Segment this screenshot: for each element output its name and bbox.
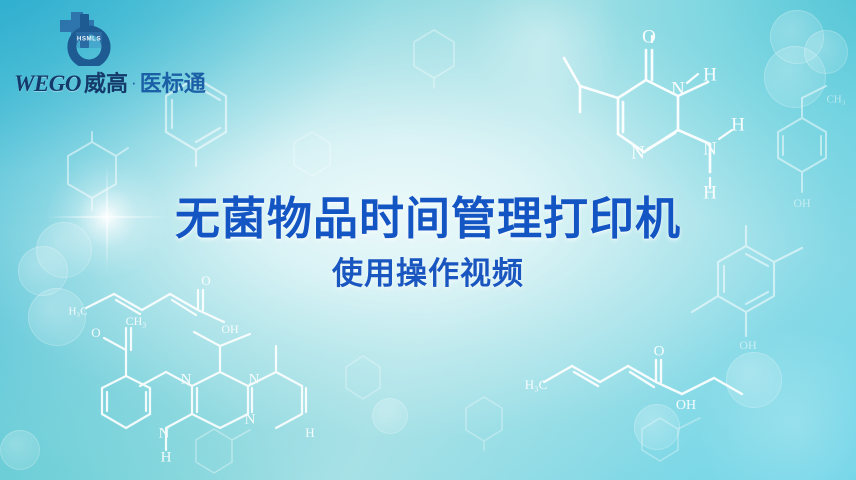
wordmark-separator: · (131, 73, 137, 93)
brand-logo[interactable]: HSMLS WEGO 威高 · 医标通 (14, 12, 194, 92)
wordmark-latin: WEGO (14, 71, 81, 97)
wordmark-cn-primary: 威高 (84, 66, 128, 98)
svg-text:OH: OH (221, 322, 239, 336)
bokeh-circle (372, 398, 408, 434)
svg-text:H₃C: H₃C (68, 306, 87, 318)
molecule-cluster-bottom-left: H₃C O OH N N N N H O CH₃ H (74, 268, 414, 458)
molecule-ring-faint (188, 424, 252, 480)
bokeh-circle (0, 430, 40, 470)
molecule-chain-right: H₃C O OH (528, 330, 758, 440)
svg-text:N: N (703, 138, 717, 159)
svg-text:CH₃: CH₃ (126, 314, 147, 328)
svg-text:O: O (91, 325, 100, 340)
svg-text:OH: OH (676, 398, 696, 413)
video-frame: O N H N N H H H₃C O (0, 0, 856, 480)
bokeh-circle (804, 30, 848, 74)
svg-text:CH₃: CH₃ (826, 94, 845, 106)
svg-text:H: H (703, 64, 717, 85)
svg-text:N: N (181, 371, 192, 387)
svg-text:N: N (245, 411, 256, 427)
bokeh-circle (764, 46, 826, 108)
molecule-ring-faint (636, 412, 706, 466)
logo-mark-inner-text: HSMLS (77, 36, 101, 43)
light-glow-lower (700, 330, 856, 480)
svg-text:N: N (671, 78, 685, 99)
main-title: 无菌物品时间管理打印机 (0, 196, 856, 241)
svg-text:OH: OH (739, 338, 757, 352)
sub-title: 使用操作视频 (0, 259, 856, 290)
brand-wordmark: WEGO 威高 · 医标通 (14, 66, 194, 94)
svg-text:H: H (161, 449, 172, 465)
molecule-ring-faint (338, 352, 388, 406)
svg-text:H₃C: H₃C (525, 377, 548, 392)
svg-text:N: N (159, 425, 170, 441)
bokeh-circle (770, 10, 824, 64)
svg-text:O: O (642, 26, 656, 47)
svg-text:H: H (305, 425, 314, 440)
molecule-ring-faint (456, 392, 512, 450)
molecule-guanine: O N H N N H H (586, 6, 826, 206)
bokeh-circle (634, 404, 680, 450)
svg-text:O: O (654, 343, 665, 359)
molecule-ring-faint (404, 24, 464, 88)
light-glow-upper (470, 0, 620, 114)
molecule-ring-faint (286, 128, 338, 184)
svg-text:N: N (631, 142, 645, 163)
wordmark-cn-secondary: 医标通 (140, 66, 206, 98)
svg-text:N: N (249, 371, 260, 387)
bokeh-circle (28, 288, 86, 346)
bokeh-circle (726, 352, 782, 408)
title-block: 无菌物品时间管理打印机 使用操作视频 (0, 196, 856, 290)
svg-text:H: H (731, 114, 745, 135)
wego-logo-mark-icon: HSMLS (56, 12, 120, 71)
